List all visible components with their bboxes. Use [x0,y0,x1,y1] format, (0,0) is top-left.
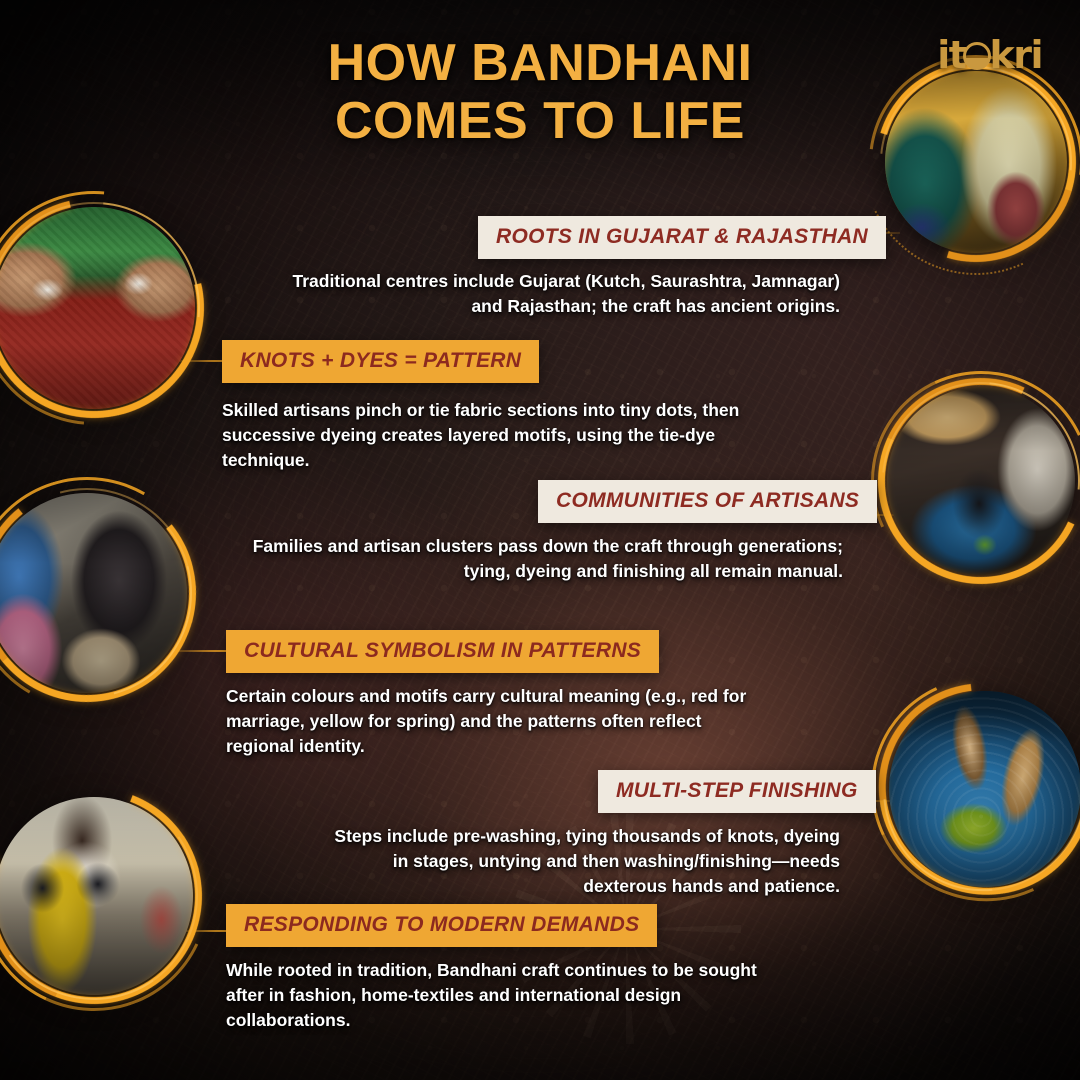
photo-yellow-skeins[interactable] [0,788,202,1004]
page-title: HOW BANDHANI COMES TO LIFE [0,34,1080,150]
photo-dyeing-blue-tub[interactable] [878,378,1080,584]
logo-text-after: kri [989,33,1042,77]
section-label-communities[interactable]: COMMUNITIES OF ARTISANS [538,480,877,523]
photo-disc [0,207,195,409]
logo-o-circle-icon [963,42,991,70]
photo-hands-tying-red[interactable] [0,198,204,418]
photo-blue-dye-vat[interactable] [880,682,1080,896]
section-body-roots: Traditional centres include Gujarat (Kut… [260,269,840,319]
photo-disc [889,691,1080,887]
section-body-knots: Skilled artisans pinch or tie fabric sec… [222,398,742,473]
photo-disc [887,387,1075,575]
title-line-2: COMES TO LIFE [0,92,1080,150]
section-label-knots[interactable]: KNOTS + DYES = PATTERN [222,340,539,383]
photo-disc [0,493,187,693]
photo-disc [0,797,193,995]
section-label-modern[interactable]: RESPONDING TO MODERN DEMANDS [226,904,657,947]
section-body-communities: Families and artisan clusters pass down … [245,534,843,584]
section-body-finishing: Steps include pre-washing, tying thousan… [320,824,840,899]
logo-text-before: it [937,33,965,77]
section-body-modern: While rooted in tradition, Bandhani craf… [226,958,778,1033]
section-label-finishing[interactable]: MULTI-STEP FINISHING [598,770,876,813]
photo-women-artisans[interactable] [0,484,196,702]
title-line-1: HOW BANDHANI [0,34,1080,92]
section-label-symbolism[interactable]: CULTURAL SYMBOLISM IN PATTERNS [226,630,659,673]
infographic-canvas: HOW BANDHANI COMES TO LIFE itkri [0,0,1080,1080]
section-body-symbolism: Certain colours and motifs carry cultura… [226,684,766,759]
itokri-logo[interactable]: itkri [937,36,1042,74]
section-label-roots[interactable]: ROOTS IN GUJARAT & RAJASTHAN [478,216,886,259]
